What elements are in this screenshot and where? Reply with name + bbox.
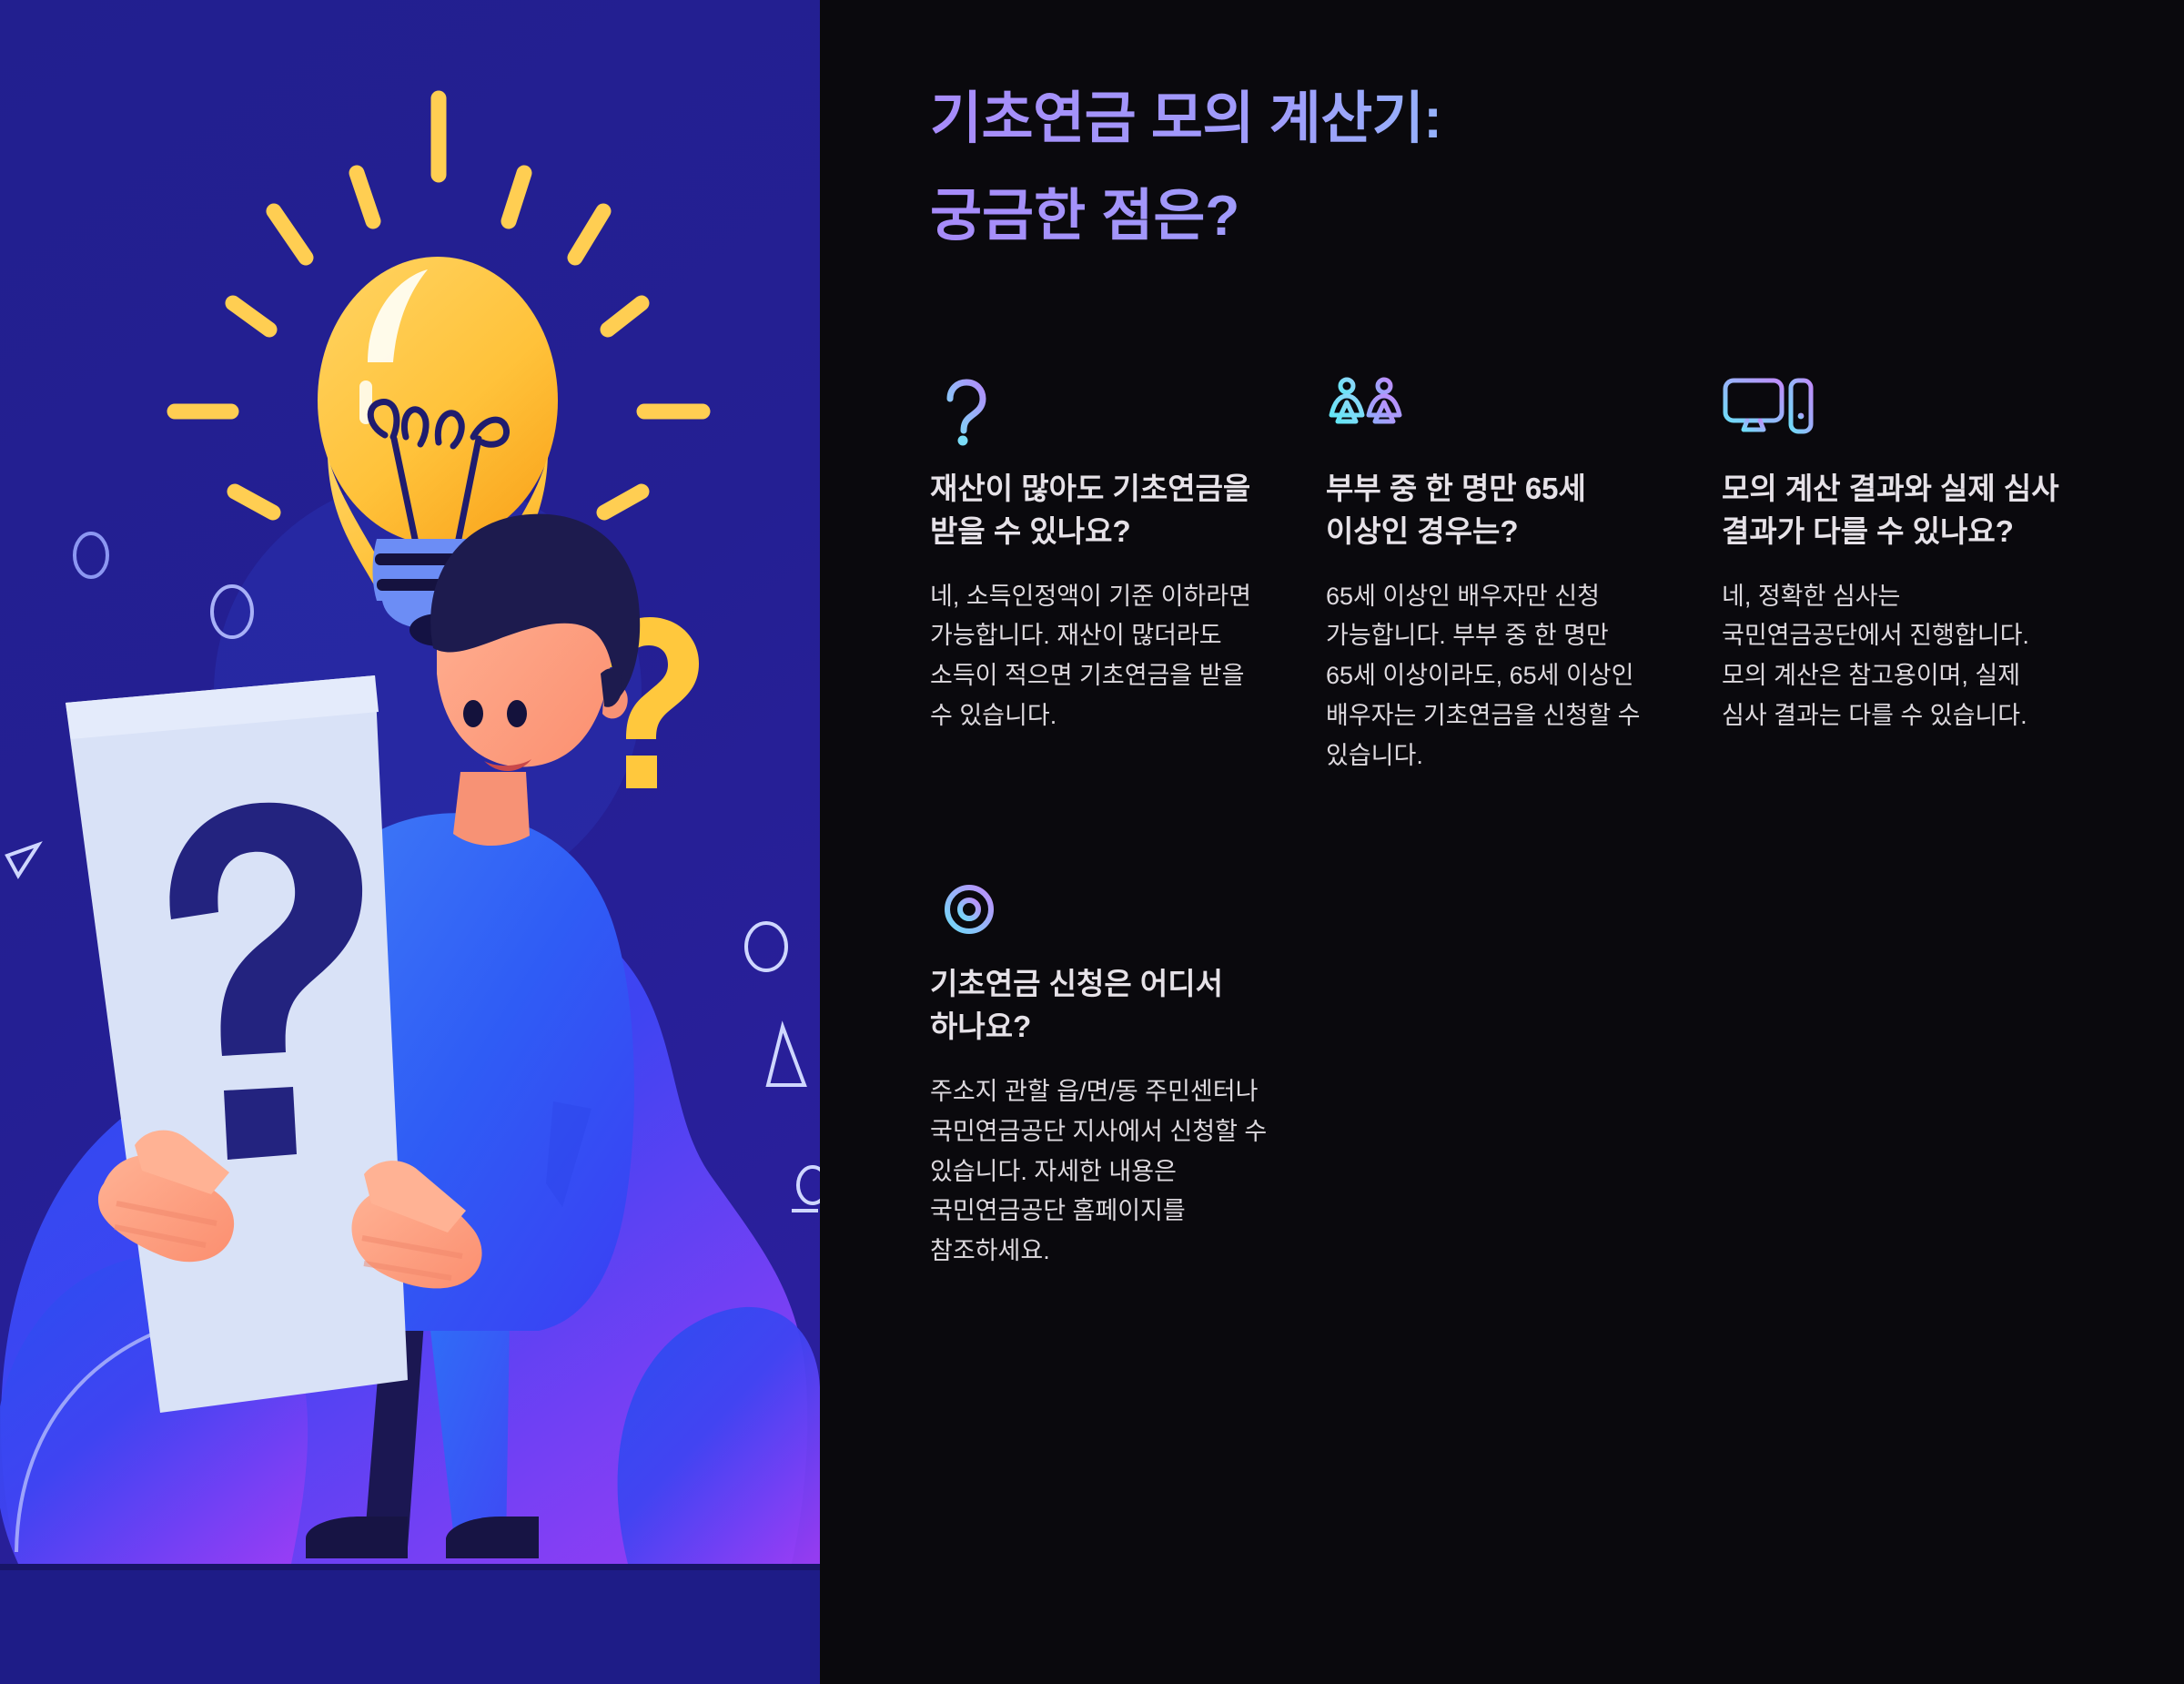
faq-content-panel: 기초연금 모의 계산기: 궁금한 점은? 재산이 많아도 기초연금을 받을 수 … [820, 0, 2184, 1684]
faq-answer: 네, 정확한 심사는 국민연금공단에서 진행합니다. 모의 계산은 참고용이며,… [1722, 577, 2061, 736]
question-mark-icon [930, 375, 1269, 444]
title-line-2: 궁금한 점은? [930, 168, 2022, 266]
faq-card-2: 부부 중 한 명만 65세 이상인 경우는? 65세 이상인 배우자만 신청 가… [1326, 375, 1665, 776]
faq-card-4: 기초연금 신청은 어디서 하나요? 주소지 관할 읍/면/동 주민센터나 국민연… [930, 870, 1269, 1271]
faq-card-1: 재산이 많아도 기초연금을 받을 수 있나요? 네, 소득인정액이 기준 이하라… [930, 375, 1269, 776]
faq-question: 재산이 많아도 기초연금을 받을 수 있나요? [930, 468, 1269, 553]
illustration-artwork [0, 0, 820, 1684]
couple-icon [1326, 375, 1665, 444]
page-title: 기초연금 모의 계산기: 궁금한 점은? [930, 71, 2022, 265]
illustration-panel [0, 0, 820, 1684]
faq-question: 기초연금 신청은 어디서 하나요? [930, 963, 1269, 1049]
location-target-icon [930, 870, 1269, 939]
faq-question: 부부 중 한 명만 65세 이상인 경우는? [1326, 468, 1665, 553]
faq-answer: 네, 소득인정액이 기준 이하라면 가능합니다. 재산이 많더라도 소득이 적으… [930, 577, 1269, 736]
faq-grid: 재산이 많아도 기초연금을 받을 수 있나요? 네, 소득인정액이 기준 이하라… [930, 375, 2140, 1272]
faq-card-3: 모의 계산 결과와 실제 심사 결과가 다를 수 있나요? 네, 정확한 심사는… [1722, 375, 2061, 776]
faq-answer: 주소지 관할 읍/면/동 주민센터나 국민연금공단 지사에서 신청할 수 있습니… [930, 1072, 1269, 1272]
desktop-computer-icon [1722, 375, 2061, 444]
title-line-1: 기초연금 모의 계산기: [930, 71, 2022, 168]
faq-question: 모의 계산 결과와 실제 심사 결과가 다를 수 있나요? [1722, 468, 2061, 553]
faq-answer: 65세 이상인 배우자만 신청 가능합니다. 부부 중 한 명만 65세 이상이… [1326, 577, 1665, 776]
faq-infographic-page: 기초연금 모의 계산기: 궁금한 점은? 재산이 많아도 기초연금을 받을 수 … [0, 0, 2184, 1684]
